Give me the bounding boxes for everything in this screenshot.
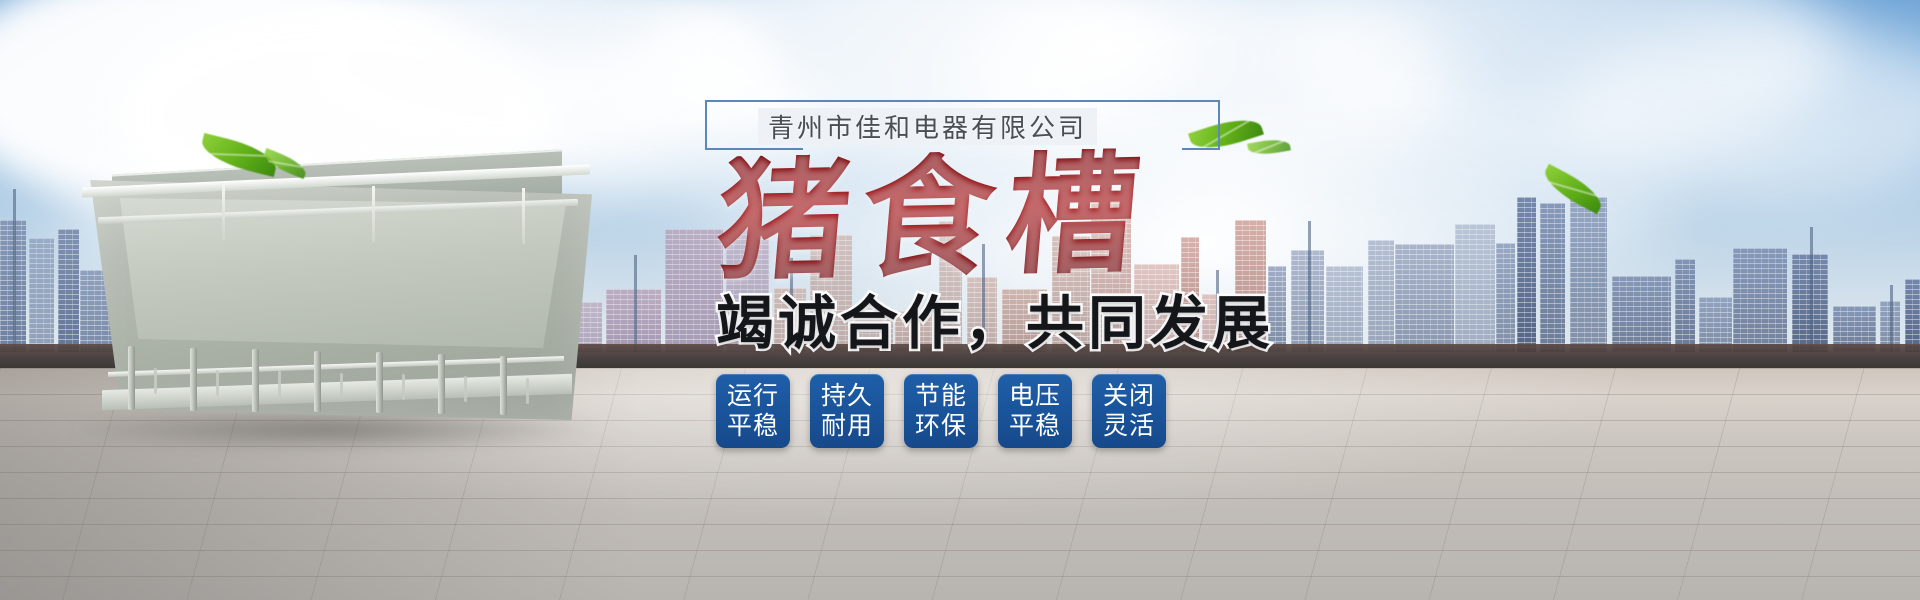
trough-drinking-nipple [216, 370, 219, 396]
badge-line-2: 耐用 [821, 411, 873, 441]
badge-line-1: 关闭 [1103, 381, 1155, 411]
trough-drinking-nipple [526, 378, 529, 404]
trough-divider [314, 351, 321, 413]
feature-badge[interactable]: 节能环保 [904, 374, 978, 448]
trough-divider [190, 348, 197, 411]
trough-seam [522, 188, 525, 244]
trough-drinking-nipple [154, 368, 157, 394]
trough-drinking-nipple [402, 374, 405, 400]
feature-badge[interactable]: 电压平稳 [998, 374, 1072, 448]
trough-divider [376, 352, 383, 413]
frame-bracket-top [800, 100, 1184, 102]
trough-divider [128, 346, 135, 410]
skyline-spire [1810, 227, 1813, 352]
trough-seam [222, 184, 225, 240]
badge-line-2: 平稳 [1009, 411, 1061, 441]
headline-title: 猪食槽 [712, 147, 1156, 288]
badge-line-2: 平稳 [727, 411, 779, 441]
badge-line-1: 电压 [1009, 381, 1061, 411]
skyline-spire [634, 255, 637, 352]
banner-copy: 青州市佳和电器有限公司 猪食槽 竭诚合作，共同发展 运行平稳持久耐用节能环保电压… [700, 96, 1440, 556]
subtitle-slogan: 竭诚合作，共同发展 [716, 294, 1274, 352]
frame-bracket-right [1182, 100, 1220, 150]
skyline-building [29, 238, 54, 352]
badge-line-2: 灵活 [1103, 411, 1155, 441]
skyline-building [1612, 276, 1671, 352]
skyline-building [1540, 203, 1565, 352]
product-image-trough [72, 150, 592, 480]
skyline-building [1570, 197, 1607, 352]
trough-drinking-nipple [464, 376, 467, 402]
skyline-spire [1890, 285, 1893, 352]
feature-badge[interactable]: 运行平稳 [716, 374, 790, 448]
badge-line-1: 持久 [821, 381, 873, 411]
trough-divider [500, 356, 507, 415]
banner-stage: 青州市佳和电器有限公司 猪食槽 竭诚合作，共同发展 运行平稳持久耐用节能环保电压… [0, 0, 1920, 600]
trough-divider [252, 349, 259, 411]
feature-badge-list: 运行平稳持久耐用节能环保电压平稳关闭灵活 [716, 374, 1166, 448]
feature-badge[interactable]: 持久耐用 [810, 374, 884, 448]
trough-divider [438, 354, 445, 414]
badge-line-2: 环保 [915, 411, 967, 441]
trough-drinking-nipple [278, 371, 281, 397]
skyline-building [1455, 224, 1495, 352]
trough-seam [372, 186, 375, 242]
badge-line-1: 运行 [727, 381, 779, 411]
feature-badge[interactable]: 关闭灵活 [1092, 374, 1166, 448]
skyline-building [1517, 197, 1536, 352]
skyline-building [1496, 243, 1515, 352]
skyline-building [1733, 248, 1787, 352]
skyline-spire [13, 189, 16, 352]
badge-line-1: 节能 [915, 381, 967, 411]
skyline-building [1905, 279, 1920, 352]
skyline-building [1675, 259, 1695, 352]
trough-drinking-nipple [340, 373, 343, 399]
